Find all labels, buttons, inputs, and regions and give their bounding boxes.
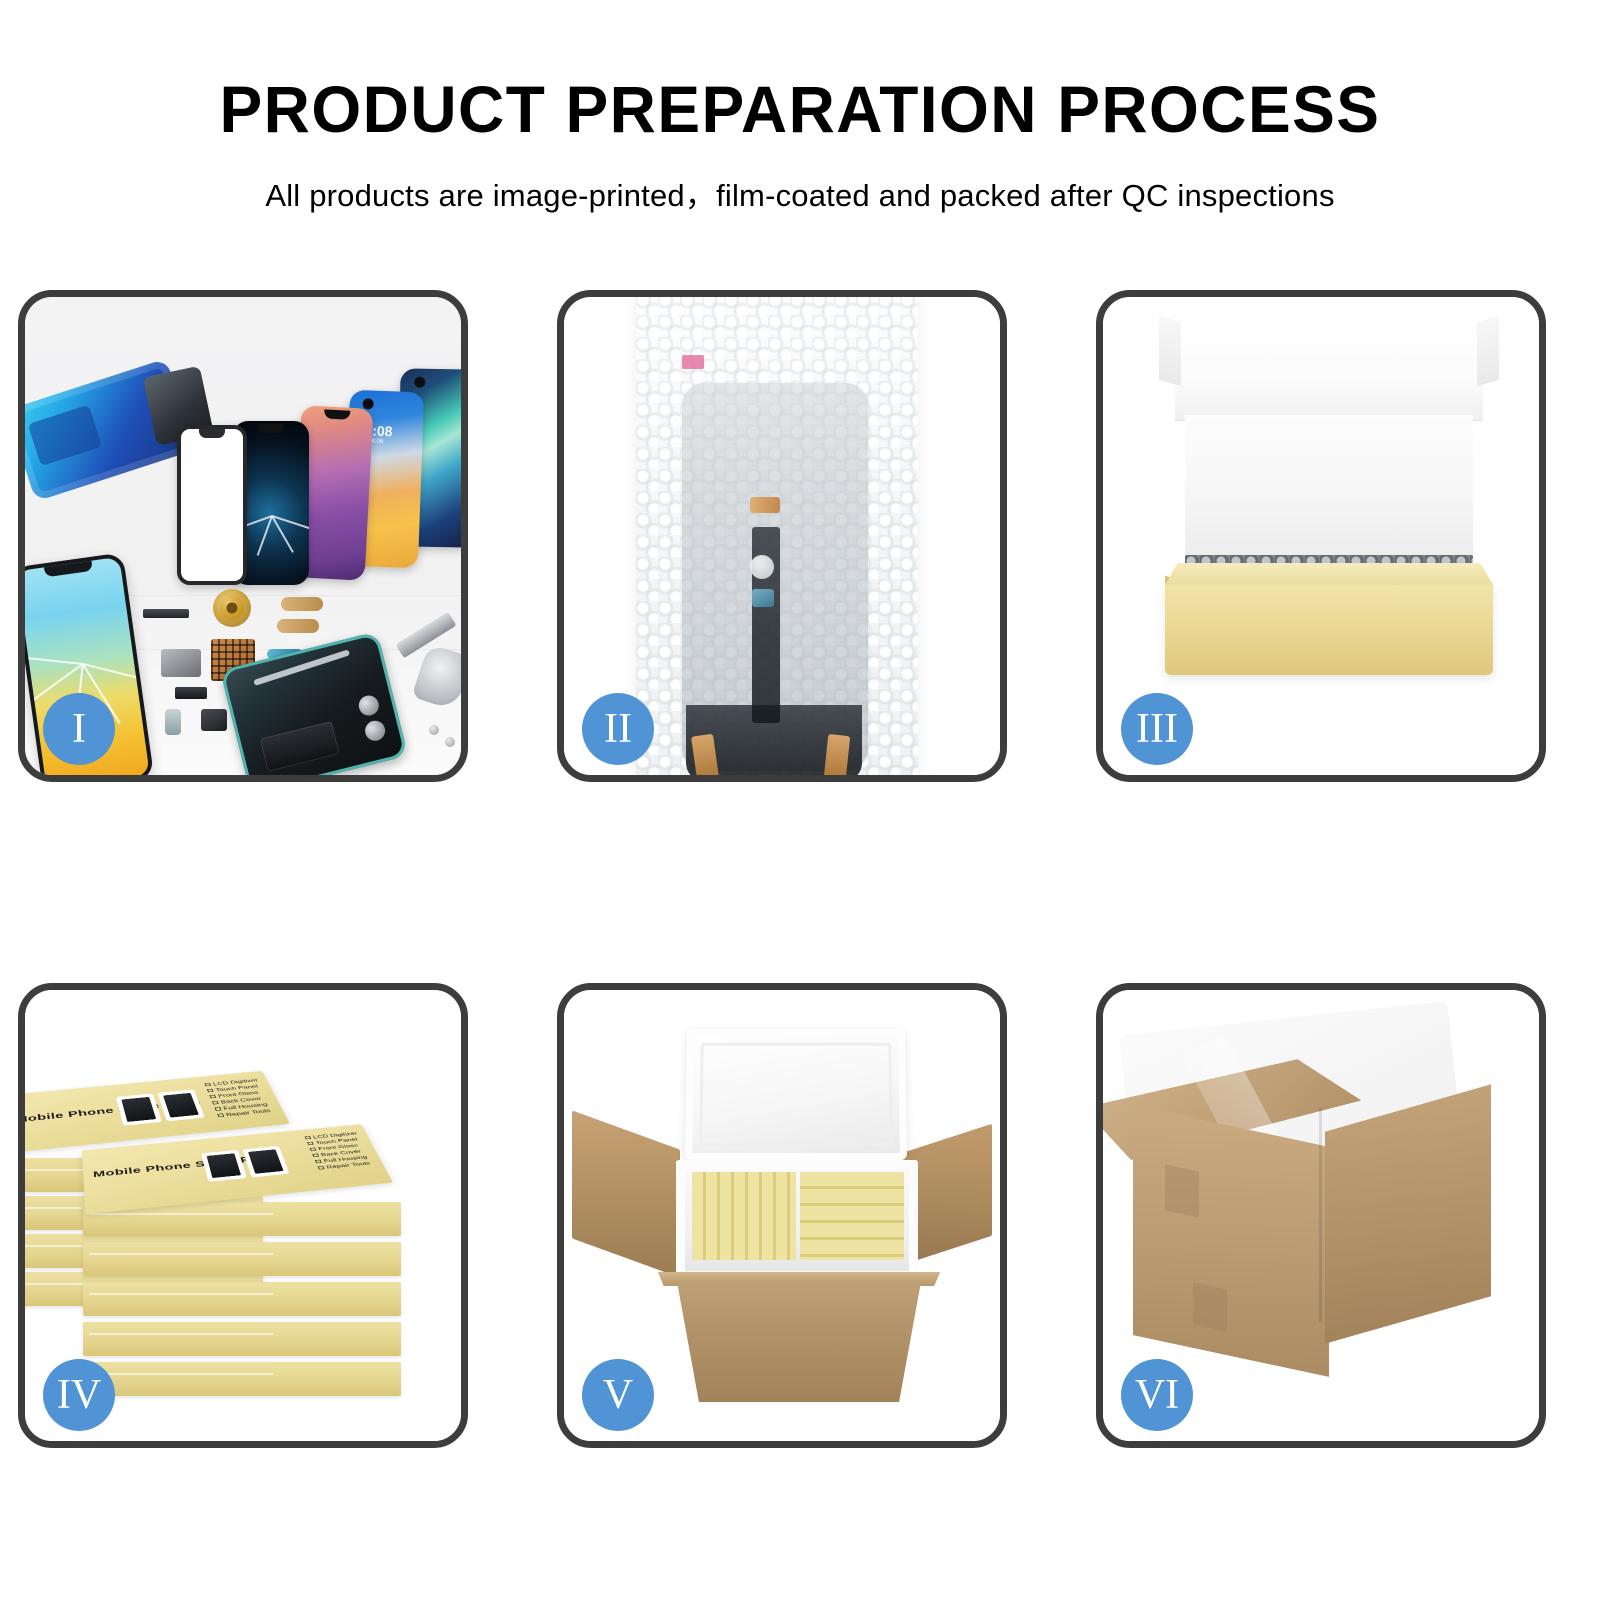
- box-inner-wall: [1185, 415, 1473, 561]
- checkbox-icon: [310, 1148, 317, 1152]
- outer-carton-body: [660, 1280, 938, 1402]
- product-thumb: [157, 1089, 204, 1121]
- retail-box-checklist-front: LCD Digitizer Touch Panel Front Glass Ba…: [304, 1131, 374, 1171]
- battery-part: [260, 721, 340, 772]
- carton-edge-seam: [1319, 1108, 1322, 1323]
- page-title: PRODUCT PREPARATION PROCESS: [24, 76, 1576, 142]
- retail-box-product-images-front: [201, 1146, 289, 1182]
- gold-tab-right: [824, 734, 850, 775]
- inner-yellow-boxes: [692, 1172, 904, 1260]
- checkbox-icon: [212, 1101, 219, 1105]
- phone-thumb-icon: [248, 1149, 283, 1173]
- step-panel-4[interactable]: Mobile Phone Spare Parts LCD Digitizer T…: [18, 983, 468, 1448]
- crack-line: [257, 516, 273, 556]
- flex-cable-part: [281, 597, 323, 611]
- screw-part: [429, 725, 439, 735]
- camera-punch-hole: [363, 398, 374, 409]
- camera-lens: [357, 693, 381, 717]
- phone-thumb-icon: [121, 1097, 156, 1122]
- yellow-mailer-box: [1165, 583, 1493, 675]
- blue-chip-component: [752, 589, 774, 607]
- retail-box-product-images-rear: [116, 1089, 205, 1125]
- product-thumb: [243, 1146, 290, 1178]
- box-lid-open: [1175, 319, 1483, 421]
- yellow-box-column: [800, 1172, 904, 1260]
- checkbox-icon: [307, 1142, 314, 1145]
- boxed-stack-item: [83, 1362, 401, 1396]
- step-panel-1[interactable]: 08:08Tue 08:08: [18, 290, 468, 782]
- process-steps-grid: 08:08Tue 08:08: [18, 290, 1582, 1448]
- checkbox-icon: [312, 1154, 319, 1158]
- boxed-stack-item: [83, 1282, 401, 1316]
- phone-notch: [324, 409, 350, 419]
- step-badge-6: VI: [1121, 1359, 1193, 1431]
- camera-punch-hole: [414, 377, 425, 388]
- speaker-part: [201, 709, 227, 731]
- checkbox-icon: [207, 1089, 214, 1093]
- sealing-tape-patch: [1165, 1164, 1199, 1217]
- front-glass-panel: [177, 425, 247, 585]
- crack-line: [25, 656, 83, 665]
- screw-part: [445, 737, 455, 747]
- retail-box-checklist-rear: LCD Digitizer Touch Panel Front Glass Ba…: [204, 1077, 274, 1118]
- checkbox-icon: [214, 1107, 221, 1111]
- wireless-coil-part: [213, 589, 251, 627]
- frame-cutout: [28, 405, 102, 467]
- checkbox-icon: [204, 1083, 211, 1086]
- checkbox-icon: [217, 1113, 224, 1117]
- step-badge-3: III: [1121, 693, 1193, 765]
- pink-qc-label: [682, 355, 704, 369]
- round-ic-component: [750, 555, 774, 579]
- step-badge-5: V: [582, 1359, 654, 1431]
- step-panel-6[interactable]: VI: [1096, 983, 1546, 1448]
- gold-connector: [750, 497, 780, 513]
- camera-lens: [363, 719, 387, 743]
- phone-thumb-icon: [163, 1093, 199, 1118]
- page-subtitle: All products are image-printed，film-coat…: [0, 170, 1600, 215]
- earpiece-mesh-part: [143, 609, 189, 618]
- carton-front-face: [1133, 1105, 1329, 1377]
- page-header: PRODUCT PREPARATION PROCESS All products…: [0, 0, 1600, 215]
- product-thumb: [116, 1093, 162, 1125]
- step-badge-2: II: [582, 693, 654, 765]
- checkbox-icon: [318, 1166, 325, 1170]
- boxed-stack-item: [83, 1242, 401, 1276]
- flex-cable-part: [277, 619, 319, 633]
- step-badge-1: I: [43, 693, 115, 765]
- boxed-stack-item: [83, 1322, 401, 1356]
- step-panel-2[interactable]: II: [557, 290, 1007, 782]
- phone-notch: [257, 424, 284, 433]
- vibrator-part: [175, 687, 207, 699]
- product-thumb: [201, 1150, 247, 1182]
- step-badge-4: IV: [43, 1359, 115, 1431]
- sim-tray-part: [165, 709, 181, 735]
- step-panel-5[interactable]: V: [557, 983, 1007, 1448]
- checkbox-icon: [315, 1160, 322, 1164]
- checkbox-icon: [305, 1136, 312, 1139]
- foam-box-lid: [685, 1029, 907, 1160]
- step-panel-3[interactable]: III: [1096, 290, 1546, 782]
- checkbox-icon: [209, 1095, 216, 1099]
- phone-thumb-icon: [207, 1153, 241, 1178]
- sealing-tape-patch: [1193, 1282, 1227, 1331]
- ribbon-cable-part: [161, 649, 201, 677]
- yellow-box-column: [692, 1172, 796, 1260]
